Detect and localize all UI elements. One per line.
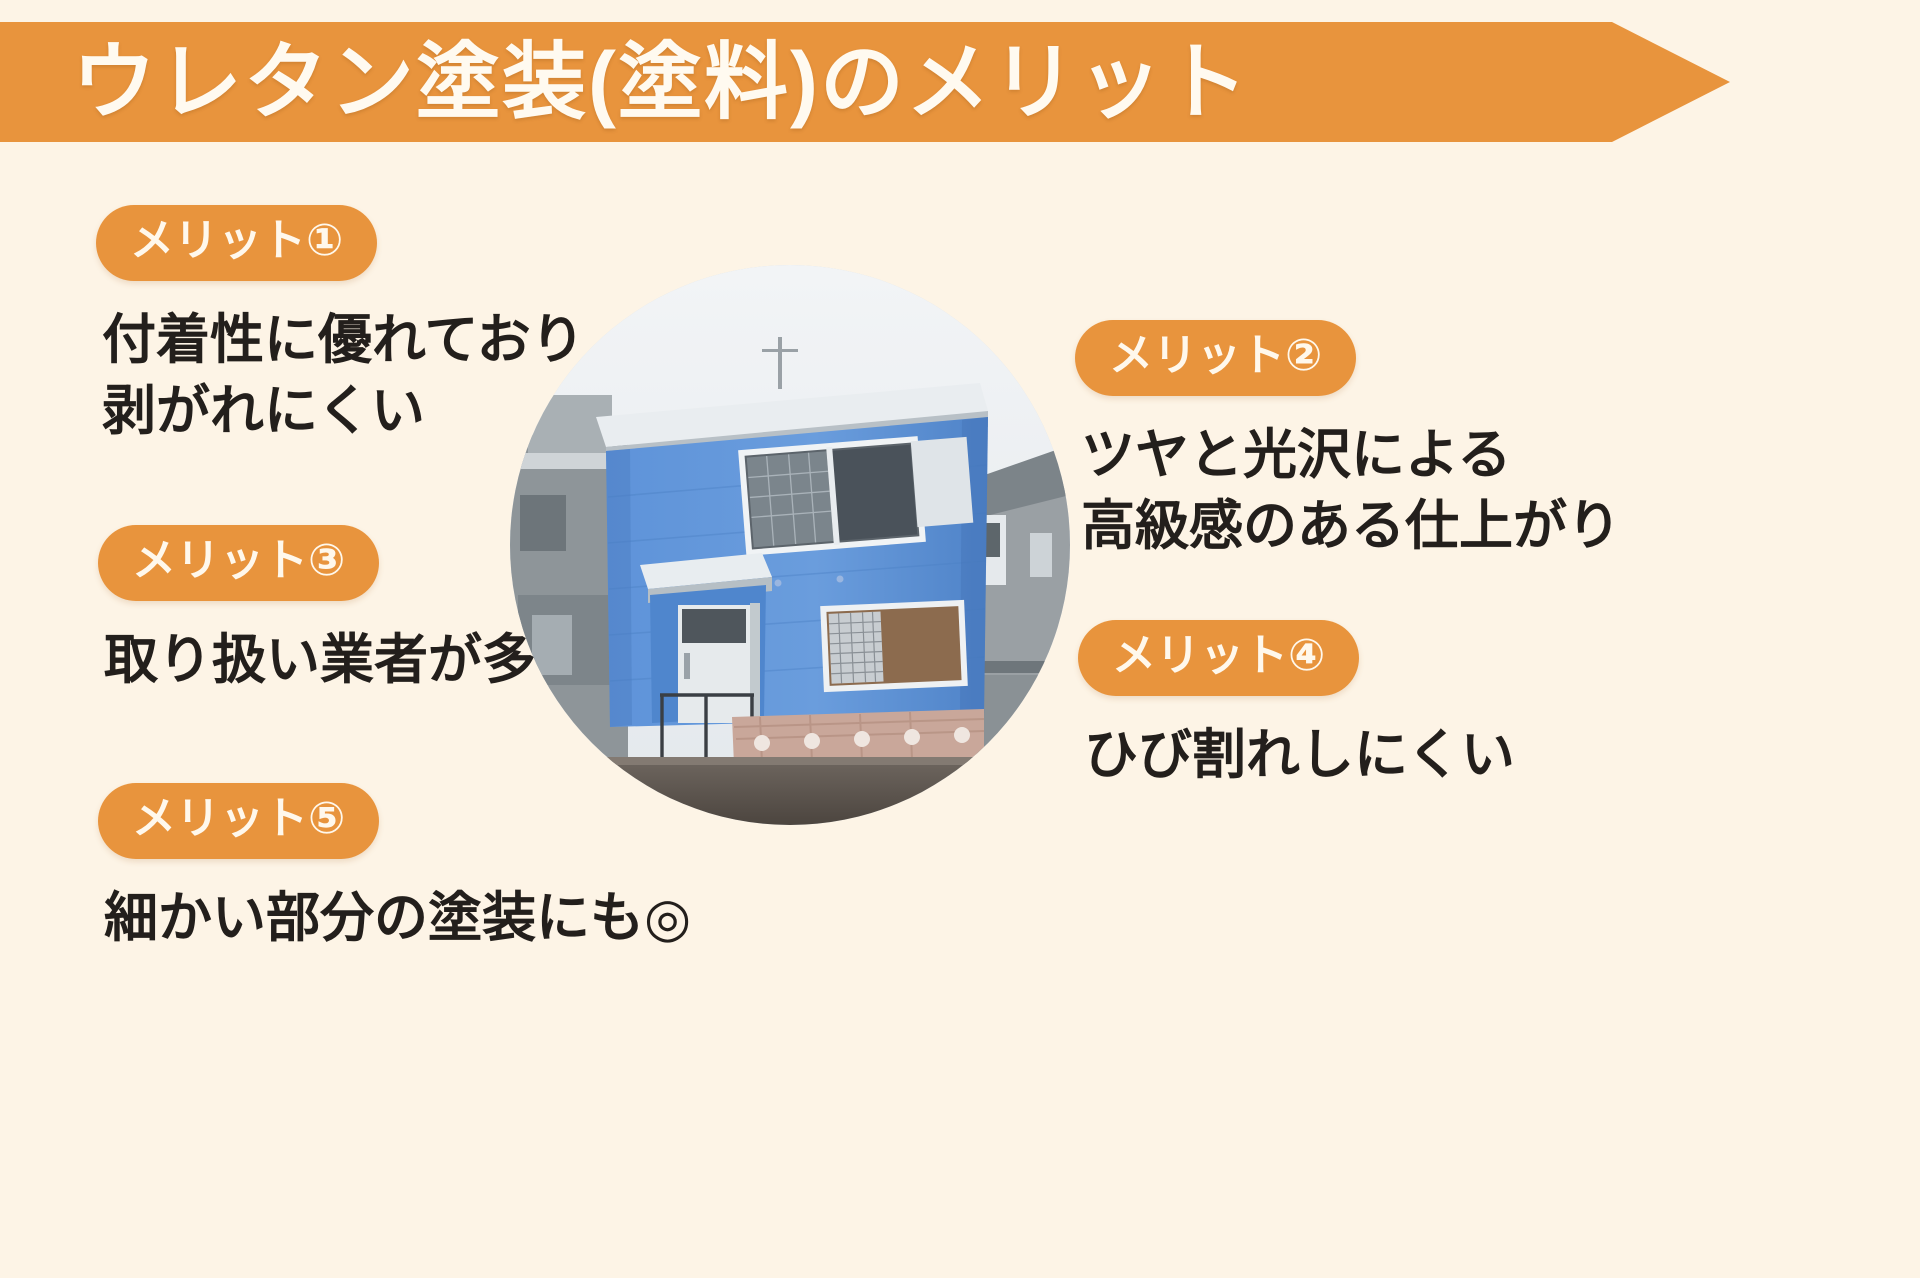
merit-text-2-line-1: ツヤと光沢による (1081, 420, 1621, 491)
merit-text-2-line-2: 高級感のある仕上がり (1081, 491, 1621, 562)
merit-text-5-line-1: 細かい部分の塗装にも◎ (104, 883, 691, 954)
merit-text-5: 細かい部分の塗装にも◎ (104, 883, 691, 954)
page-title: ウレタン塗装(塗料)のメリット (72, 40, 1250, 124)
merit-text-4-line-1: ひび割れしにくい (1084, 720, 1515, 791)
house-photo (510, 265, 1070, 825)
merit-badge-3: メリット③ (98, 525, 379, 601)
house-photo-circle (510, 265, 1070, 825)
header-ribbon: ウレタン塗装(塗料)のメリット (0, 22, 1730, 142)
merit-badge-5: メリット⑤ (98, 783, 379, 859)
house-photo-illustration (510, 265, 1070, 825)
merit-text-2: ツヤと光沢による 高級感のある仕上がり (1081, 420, 1621, 563)
merit-block-2: メリット② ツヤと光沢による 高級感のある仕上がり (1075, 320, 1621, 563)
merit-badge-2: メリット② (1075, 320, 1356, 396)
merit-badge-4: メリット④ (1078, 620, 1359, 696)
merit-badge-1: メリット① (96, 205, 377, 281)
merit-text-4: ひび割れしにくい (1084, 720, 1515, 791)
infographic-page: ウレタン塗装(塗料)のメリット メリット① 付着性に優れており 剥がれにくい メ… (0, 0, 1920, 1278)
merit-block-4: メリット④ ひび割れしにくい (1078, 620, 1515, 791)
